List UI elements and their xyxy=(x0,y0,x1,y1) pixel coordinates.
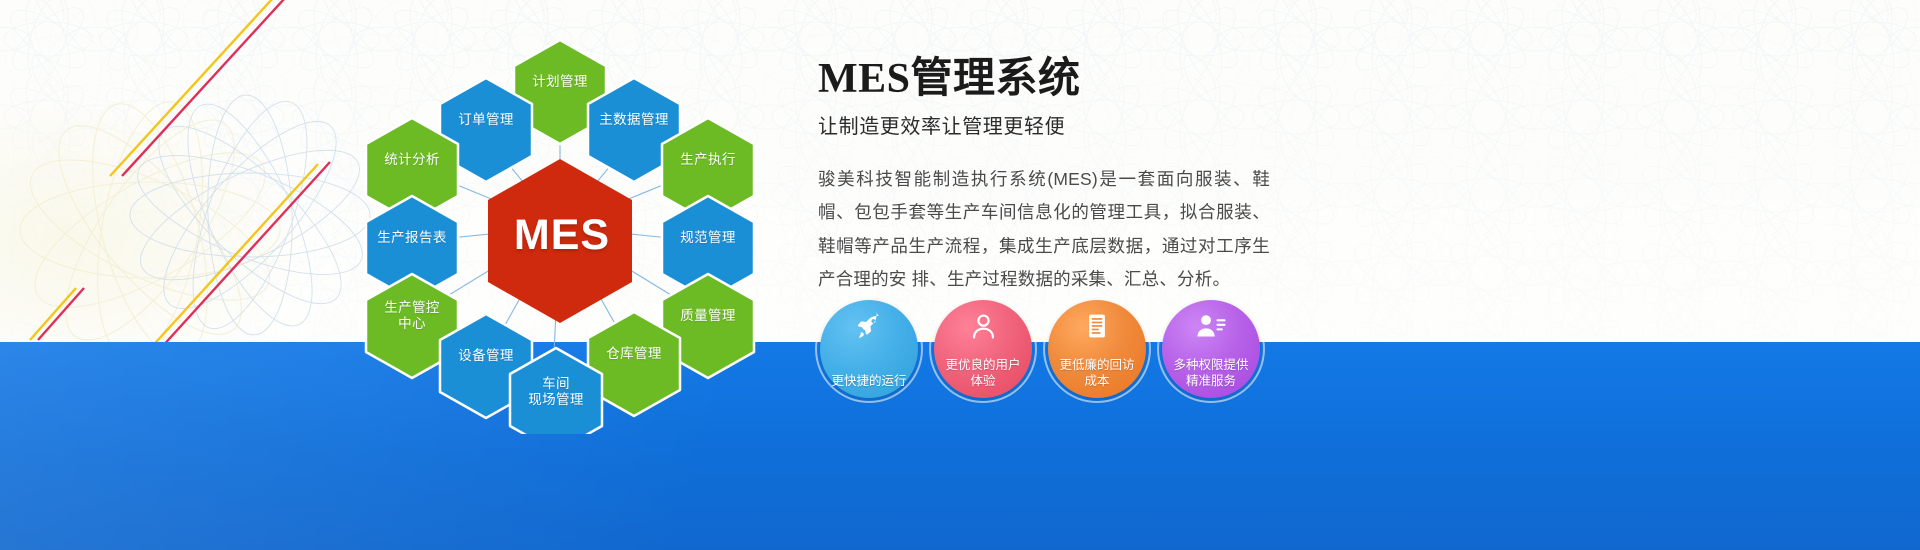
badge-label: 更低廉的回访 成本 xyxy=(1053,357,1140,389)
banner-stage: 计划管理 订单管理 主数据管理 统计分析 生产执行 生产报告表 规范管理 生产管… xyxy=(0,0,1920,550)
user-icon xyxy=(966,309,1000,343)
badge-lower-revisit-cost[interactable]: 更低廉的回访 成本 xyxy=(1048,300,1146,398)
document-icon xyxy=(1080,309,1114,343)
badge-better-user-experience[interactable]: 更优良的用户 体验 xyxy=(934,300,1032,398)
people-icon xyxy=(1194,309,1228,343)
hexagon-diagram-svg xyxy=(330,14,790,434)
mes-hexagon-diagram: 计划管理 订单管理 主数据管理 统计分析 生产执行 生产报告表 规范管理 生产管… xyxy=(330,14,790,434)
badge-multiple-permissions[interactable]: 多种权限提供 精准服务 xyxy=(1162,300,1260,398)
page-title: MES管理系统 xyxy=(818,58,1288,102)
hexagon-shapes xyxy=(366,40,754,434)
badge-faster-operation[interactable]: 更快捷的运行 xyxy=(820,300,918,398)
copy-block: MES管理系统 让制造更效率让管理更轻便 骏美科技智能制造执行系统(MES)是一… xyxy=(818,58,1288,297)
description-paragraph: 骏美科技智能制造执行系统(MES)是一套面向服装、鞋帽、包包手套等生产车间信息化… xyxy=(818,163,1270,297)
feature-badges: 更快捷的运行 更优良的用户 体验 xyxy=(820,300,1260,398)
rocket-icon xyxy=(852,309,886,343)
badge-label: 更优良的用户 体验 xyxy=(939,357,1026,389)
badge-label: 多种权限提供 精准服务 xyxy=(1167,357,1254,389)
page-subtitle: 让制造更效率让管理更轻便 xyxy=(818,110,1288,139)
badge-label: 更快捷的运行 xyxy=(825,373,912,389)
